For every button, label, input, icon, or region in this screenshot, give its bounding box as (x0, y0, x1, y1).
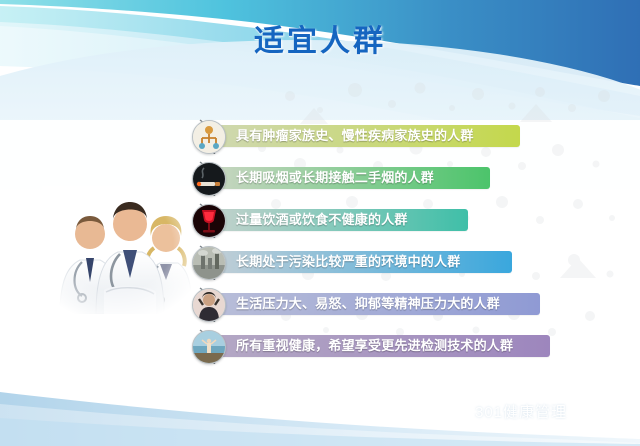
wechat-icon (452, 404, 470, 420)
item-icon (188, 202, 228, 238)
page-title: 适宜人群 (0, 16, 640, 60)
person-on-beach-icon (192, 330, 226, 364)
item-label: 生活压力大、易怒、抑郁等精神压力大的人群 (236, 293, 500, 315)
list-item[interactable]: 具有肿瘤家族史、慢性疾病家族史的人群 (188, 116, 588, 156)
item-label: 具有肿瘤家族史、慢性疾病家族史的人群 (236, 125, 474, 147)
item-icon (188, 118, 228, 154)
item-icon (188, 244, 228, 280)
slide-canvas: 适宜人群 (0, 0, 640, 446)
watermark: 301健康管理 (452, 401, 567, 422)
list-item[interactable]: 过量饮酒或饮食不健康的人群 (188, 200, 588, 240)
audience-list: 具有肿瘤家族史、慢性疾病家族史的人群 (188, 116, 588, 366)
item-label: 长期吸烟或长期接触二手烟的人群 (236, 167, 434, 189)
watermark-text: 301健康管理 (475, 401, 567, 422)
list-item[interactable]: 长期吸烟或长期接触二手烟的人群 (188, 158, 588, 198)
item-label: 所有重视健康，希望享受更先进检测技术的人群 (236, 335, 513, 357)
list-item[interactable]: 生活压力大、易怒、抑郁等精神压力大的人群 (188, 284, 588, 324)
doctors-team-photo (42, 186, 192, 314)
red-wine-glass-icon (192, 204, 226, 238)
item-label: 过量饮酒或饮食不健康的人群 (236, 209, 408, 231)
polluted-factory-icon (192, 246, 226, 280)
item-icon (188, 328, 228, 364)
stressed-person-icon (192, 288, 226, 322)
item-label: 长期处于污染比较严重的环境中的人群 (236, 251, 460, 273)
list-item[interactable]: 所有重视健康，希望享受更先进检测技术的人群 (188, 326, 588, 366)
list-item[interactable]: 长期处于污染比较严重的环境中的人群 (188, 242, 588, 282)
family-tree-icon (192, 120, 226, 154)
item-icon (188, 286, 228, 322)
item-icon (188, 160, 228, 196)
cigarette-smoke-icon (192, 162, 226, 196)
